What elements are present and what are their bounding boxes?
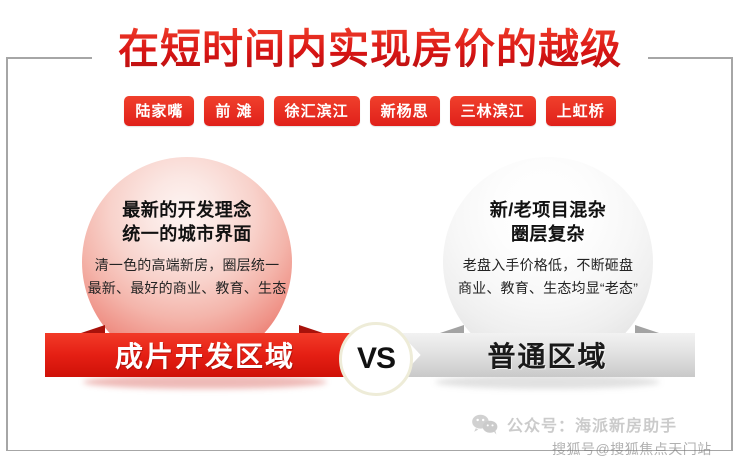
right-panel-text: 新/老项目混杂 圈层复杂 老盘入手价格低，不断砸盘 商业、教育、生态均显“老态”: [418, 198, 678, 299]
right-body-line2: 商业、教育、生态均显“老态”: [418, 278, 678, 299]
left-heading-line2: 统一的城市界面: [57, 222, 317, 246]
right-heading-line2: 圈层复杂: [418, 222, 678, 246]
banner-right-label: 普通区域: [487, 335, 607, 375]
district-tag-xinyangsi[interactable]: 新杨思: [370, 96, 440, 126]
district-tag-sanlinbinjiang[interactable]: 三林滨江: [450, 96, 536, 126]
left-body-line2: 最新、最好的商业、教育、生态: [57, 278, 317, 299]
right-heading-line1: 新/老项目混杂: [418, 198, 678, 222]
left-heading-line1: 最新的开发理念: [57, 198, 317, 222]
district-tag-xuhuibinjiang[interactable]: 徐汇滨江: [274, 96, 360, 126]
banner-right-body: 普通区域: [400, 333, 695, 377]
poster-canvas: 在短时间内实现房价的越级 陆家嘴 前 滩 徐汇滨江 新杨思 三林滨江 上虹桥 最…: [0, 0, 740, 465]
page-title: 在短时间内实现房价的越级: [0, 26, 740, 73]
wechat-icon: [470, 413, 500, 435]
left-panel-text: 最新的开发理念 统一的城市界面 清一色的高端新房，圈层统一 最新、最好的商业、教…: [57, 198, 317, 299]
sohu-watermark-text: 搜狐号@搜狐焦点天门站: [552, 439, 712, 459]
banner-left-body: 成片开发区域: [45, 333, 365, 377]
banner-left-shadow: [83, 375, 326, 389]
right-body-line1: 老盘入手价格低，不断砸盘: [418, 255, 678, 276]
vs-badge: VS: [339, 322, 413, 396]
vs-badge-label: VS: [357, 342, 395, 376]
left-body-line1: 清一色的高端新房，圈层统一: [57, 255, 317, 276]
district-tag-row: 陆家嘴 前 滩 徐汇滨江 新杨思 三林滨江 上虹桥: [0, 96, 740, 126]
banner-left-developed-area: 成片开发区域: [45, 325, 365, 385]
wechat-watermark-text: 公众号：海派新房助手: [507, 412, 677, 436]
banner-right-shadow: [435, 375, 659, 389]
wechat-watermark: 公众号：海派新房助手: [470, 412, 677, 436]
banner-right-ordinary-area: 普通区域: [400, 325, 695, 385]
banner-left-label: 成片开发区域: [115, 335, 295, 375]
district-tag-qiantan[interactable]: 前 滩: [204, 96, 263, 126]
district-tag-shanghongqiao[interactable]: 上虹桥: [546, 96, 616, 126]
district-tag-lujiazui[interactable]: 陆家嘴: [124, 96, 194, 126]
